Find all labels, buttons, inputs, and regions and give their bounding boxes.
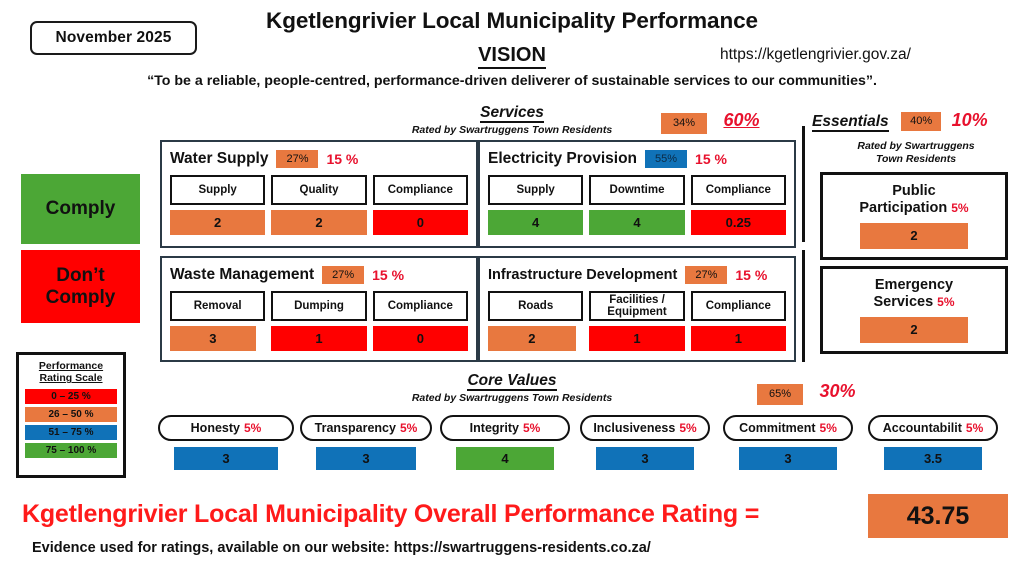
service-value-bar: 1 [691,326,786,351]
service-card-1: Electricity Provision55%15 %SupplyDownti… [478,140,796,248]
service-subcategory-label: Removal [170,291,265,321]
core-value-bar: 3 [316,447,416,470]
essential-card-0: PublicParticipation 5%2 [820,172,1008,260]
core-values-score-group: 65% 30% [757,381,855,405]
service-card-score-chip: 27% [685,266,727,284]
legend-comply: Comply [21,174,140,244]
service-subcategory-label: Roads [488,291,583,321]
service-subcategory-row: RoadsFacilities /EquipmentCompliance [488,291,786,321]
services-score-group: 34% 60% [661,110,759,134]
service-value-cell: 0.25 [691,210,786,235]
core-value-name: Inclusiveness [593,421,675,435]
core-value-item-3: Inclusiveness5%3 [580,415,710,470]
service-subcategory-label: Supply [488,175,583,205]
core-value-weight: 5% [966,421,983,435]
rating-scale-row-1: 26 – 50 % [25,407,117,422]
service-subcategory-row: RemovalDumpingCompliance [170,291,468,321]
core-value-name: Integrity [470,421,519,435]
service-value-row: 211 [488,326,786,351]
service-value-cell: 1 [691,326,786,351]
service-value-cell: 1 [271,326,366,351]
service-value-cell: 2 [271,210,366,235]
performance-rating-scale: Performance Rating Scale 0 – 25 %26 – 50… [16,352,126,478]
core-value-label: Inclusiveness5% [580,415,710,441]
essentials-subtitle-1: Rated by Swartruggens [857,140,974,152]
service-card-2: Waste Management27%15 %RemovalDumpingCom… [160,256,478,362]
service-value-row: 440.25 [488,210,786,235]
core-values-section-heading: Core Values [0,372,1024,390]
service-card-score-chip: 27% [276,150,318,168]
core-value-name: Accountabilit [883,421,962,435]
legend-comply-label: Comply [46,198,116,220]
service-value-row: 220 [170,210,468,235]
vision-heading-label: VISION [478,44,546,69]
core-values-score-chip: 65% [757,384,803,405]
service-value-bar: 2 [170,210,265,235]
essential-card-name: EmergencyServices 5% [873,277,954,310]
core-value-item-0: Honesty5%3 [158,415,294,470]
essentials-weight: 10% [952,110,988,130]
service-card-name: Waste Management [170,266,314,284]
service-value-bar: 2 [488,326,576,351]
service-value-bar: 4 [488,210,583,235]
service-card-weight: 15 % [735,267,767,283]
rating-scale-row-2: 51 – 75 % [25,425,117,440]
page-title: Kgetlengrivier Local Municipality Perfor… [0,8,1024,34]
service-card-header: Electricity Provision55%15 % [488,148,786,170]
service-value-cell: 3 [170,326,265,351]
service-card-0: Water Supply27%15 %SupplyQualityComplian… [160,140,478,248]
service-value-bar: 2 [271,210,366,235]
service-card-score-chip: 55% [645,150,687,168]
service-card-header: Infrastructure Development27%15 % [488,264,786,286]
service-subcategory-label: Facilities /Equipment [589,291,684,321]
legend-dont-comply-label-2: Comply [46,287,116,308]
service-subcategory-row: SupplyDowntimeCompliance [488,175,786,205]
rating-scale-row-3: 75 – 100 % [25,443,117,458]
core-value-name: Commitment [739,421,815,435]
core-values-subtitle: Rated by Swartruggens Town Residents [0,392,1024,404]
core-value-bar: 4 [456,447,554,470]
service-value-bar: 4 [589,210,684,235]
core-value-weight: 5% [244,421,261,435]
section-divider-bottom [802,250,805,362]
service-subcategory-label: Downtime [589,175,684,205]
service-card-name: Water Supply [170,150,268,168]
service-value-cell: 4 [488,210,583,235]
service-value-bar: 0 [373,210,468,235]
core-value-weight: 5% [523,421,540,435]
essentials-subtitle: Rated by Swartruggens Town Residents [826,140,1006,166]
core-value-bar: 3 [174,447,278,470]
municipality-url[interactable]: https://kgetlengrivier.gov.za/ [720,46,1020,64]
core-value-label: Commitment5% [723,415,853,441]
essential-card-name: PublicParticipation 5% [859,183,968,216]
services-title: Services [480,104,544,123]
core-value-bar: 3.5 [884,447,982,470]
service-subcategory-row: SupplyQualityCompliance [170,175,468,205]
core-value-weight: 5% [820,421,837,435]
essential-card-1: EmergencyServices 5%2 [820,266,1008,354]
service-card-name: Infrastructure Development [488,267,677,283]
essential-card-weight: 5% [937,295,954,309]
section-divider-top [802,126,805,242]
core-value-name: Honesty [191,421,240,435]
service-card-weight: 15 % [695,151,727,167]
legend-dont-comply: Don’t Comply [21,250,140,323]
core-value-item-1: Transparency5%3 [300,415,432,470]
service-subcategory-label: Compliance [373,175,468,205]
core-values-weight: 30% [819,381,855,401]
evidence-note: Evidence used for ratings, available on … [32,540,932,556]
service-card-header: Waste Management27%15 % [170,264,468,286]
service-value-bar: 0.25 [691,210,786,235]
service-subcategory-label: Compliance [691,291,786,321]
essential-value-bar: 2 [860,317,968,343]
vision-statement: “To be a reliable, people-centred, perfo… [0,73,1024,89]
essentials-title: Essentials [812,113,889,132]
core-value-label: Honesty5% [158,415,294,441]
core-value-label: Transparency5% [300,415,432,441]
service-value-bar: 1 [589,326,684,351]
overall-rating-label: Kgetlengrivier Local Municipality Overal… [22,500,862,529]
legend-dont-comply-label-1: Don’t [56,265,105,286]
service-subcategory-label: Quality [271,175,366,205]
service-value-bar: 3 [170,326,256,351]
overall-rating-value: 43.75 [868,494,1008,538]
service-value-bar: 0 [373,326,468,351]
core-value-label: Integrity5% [440,415,570,441]
service-value-cell: 2 [488,326,583,351]
service-card-header: Water Supply27%15 % [170,148,468,170]
service-card-weight: 15 % [326,151,358,167]
essentials-subtitle-2: Town Residents [876,153,956,165]
service-value-cell: 0 [373,210,468,235]
service-card-weight: 15 % [372,267,404,283]
core-value-weight: 5% [400,421,417,435]
core-value-bar: 3 [739,447,837,470]
core-value-item-4: Commitment5%3 [723,415,853,470]
core-value-name: Transparency [315,421,396,435]
service-value-cell: 1 [589,326,684,351]
service-card-name: Electricity Provision [488,150,637,168]
core-value-item-2: Integrity5%4 [440,415,570,470]
service-card-score-chip: 27% [322,266,364,284]
core-value-weight: 5% [679,421,696,435]
core-value-item-5: Accountabilit5%3.5 [868,415,998,470]
service-value-cell: 2 [170,210,265,235]
performance-dashboard: November 2025 Kgetlengrivier Local Munic… [0,0,1024,576]
service-value-cell: 0 [373,326,468,351]
core-values-title: Core Values [467,372,556,391]
service-card-3: Infrastructure Development27%15 %RoadsFa… [478,256,796,362]
services-weight: 60% [723,110,759,130]
services-score-chip: 34% [661,113,707,134]
service-subcategory-label: Compliance [691,175,786,205]
core-value-label: Accountabilit5% [868,415,998,441]
service-value-bar: 1 [271,326,366,351]
essentials-section-heading: Essentials 40% 10% [812,110,988,131]
service-subcategory-label: Supply [170,175,265,205]
service-value-row: 310 [170,326,468,351]
core-value-bar: 3 [596,447,694,470]
service-subcategory-label: Dumping [271,291,366,321]
service-subcategory-label: Compliance [373,291,468,321]
essentials-score-chip: 40% [901,112,941,131]
service-value-cell: 4 [589,210,684,235]
essential-value-bar: 2 [860,223,968,249]
essential-card-weight: 5% [951,201,968,215]
rating-scale-title-1: Performance [39,360,103,372]
